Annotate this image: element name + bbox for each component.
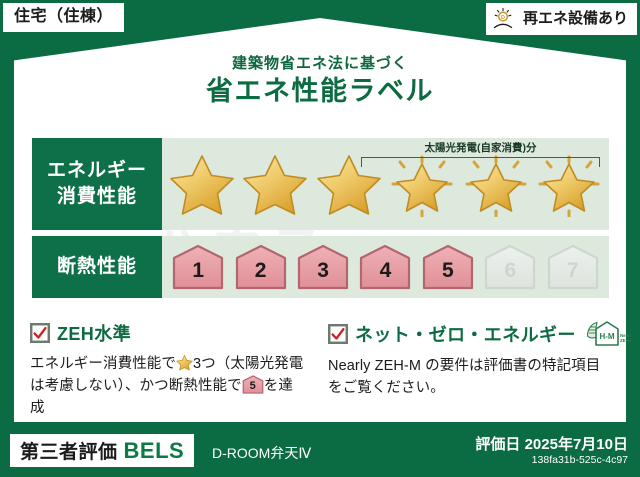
insulation-grade-track: 1 2 3 4 [162, 236, 609, 298]
inline-grade-value: 5 [242, 375, 264, 394]
building-name: D-ROOM弁天Ⅳ [212, 443, 311, 463]
criteria-zeh-title: ZEH水準 [57, 320, 131, 346]
building-type-badge: 住宅（住棟） [3, 3, 124, 32]
insulation-grade-1: 1 [171, 244, 225, 290]
insulation-grade-3: 3 [296, 244, 350, 290]
insulation-grade-2: 2 [234, 244, 288, 290]
inline-star-icon [176, 354, 193, 371]
insulation-performance-key: 断熱性能 [32, 236, 162, 298]
zeh-m-logo-text: H-M [599, 332, 614, 341]
bels-jp-label: 第三者評価 [20, 437, 118, 464]
energy-performance-row: エネルギー 消費性能 [32, 138, 609, 230]
footer-bar: 第三者評価 BELS D-ROOM弁天Ⅳ 評価日 2025年7月10日 138f… [0, 428, 640, 477]
energy-performance-key: エネルギー 消費性能 [32, 138, 162, 230]
energy-star-6-solar [535, 151, 603, 217]
insulation-grade-5: 5 [421, 244, 475, 290]
insulation-grade-2-value: 2 [255, 260, 267, 290]
insulation-grade-6: 6 [483, 244, 537, 290]
criteria-zeh-text: エネルギー消費性能で3つ（太陽光発電は考慮しない）、かつ断熱性能で5を達成 [30, 353, 306, 419]
criteria-zeh-text-a: エネルギー消費性能で [30, 356, 176, 372]
page-title: 省エネ性能ラベル [0, 75, 640, 109]
criteria-zeh-block: ZEH水準 エネルギー消費性能で3つ（太陽光発電は考慮しない）、かつ断熱性能で5… [30, 320, 306, 416]
insulation-grade-4-value: 4 [380, 260, 392, 290]
energy-performance-label: ハウス 住宅（住棟） D 再エネ設備あり 建築物省エネ法に基づく 省エネ性能ラベ… [0, 0, 640, 477]
criteria-zeh-header: ZEH水準 [30, 320, 306, 346]
evaluation-date: 評価日 2025年7月10日 [475, 433, 628, 454]
renewable-energy-label: 再エネ設備あり [523, 11, 628, 28]
insulation-grade-7-value: 7 [567, 260, 579, 290]
criteria-nzeb-header: ネット・ゼロ・エネルギー H-M Nearly ZEH-M [328, 320, 604, 348]
title-subtitle: 建築物省エネ法に基づく [0, 55, 640, 73]
title-block: 建築物省エネ法に基づく 省エネ性能ラベル [0, 55, 640, 109]
energy-star-2 [241, 151, 309, 217]
bels-badge: 第三者評価 BELS [10, 434, 194, 467]
renewable-energy-badge: D 再エネ設備あり [486, 3, 637, 35]
energy-star-track: 太陽光発電(自家消費)分 [162, 138, 609, 230]
insulation-grade-6-value: 6 [504, 260, 516, 290]
insulation-grade-5-value: 5 [442, 260, 454, 290]
sun-renewable-energy-icon: D [492, 7, 518, 31]
criteria-nzeb-text: Nearly ZEH-M の要件は評価書の特記項目をご覧ください。 [328, 355, 604, 399]
insulation-grade-1-value: 1 [192, 260, 204, 290]
energy-star-3 [315, 151, 383, 217]
record-id: 138fa31b-525c-4c97 [532, 454, 628, 466]
criteria-nzeb-title: ネット・ゼロ・エネルギー [355, 321, 576, 347]
insulation-grade-4: 4 [358, 244, 412, 290]
energy-key-line1: エネルギー [47, 158, 147, 184]
bels-en-label: BELS [124, 438, 185, 464]
energy-star-4-solar [388, 151, 456, 217]
criteria-zeh-text-c: は考慮しない）、かつ断熱性能で [30, 378, 242, 394]
zeh-m-house-logo: H-M Nearly ZEH-M [585, 320, 631, 348]
svg-text:D: D [501, 15, 505, 21]
checkbox-checked-icon [328, 324, 348, 344]
zeh-m-logo-sub-b: ZEH-M [620, 338, 631, 343]
insulation-performance-row: 断熱性能 1 2 [32, 236, 609, 298]
energy-key-line2: 消費性能 [57, 184, 137, 210]
criteria-zeh-text-b: 3つ（太陽光発電 [193, 356, 303, 372]
insulation-grade-7: 7 [546, 244, 600, 290]
insulation-grade-3-value: 3 [317, 260, 329, 290]
energy-star-5-solar [462, 151, 530, 217]
checkbox-checked-icon [30, 323, 50, 343]
inline-grade-badge: 5 [242, 375, 264, 394]
energy-star-1 [168, 151, 236, 217]
criteria-nzeb-block: ネット・ゼロ・エネルギー H-M Nearly ZEH-M Nearly ZEH… [328, 320, 604, 416]
